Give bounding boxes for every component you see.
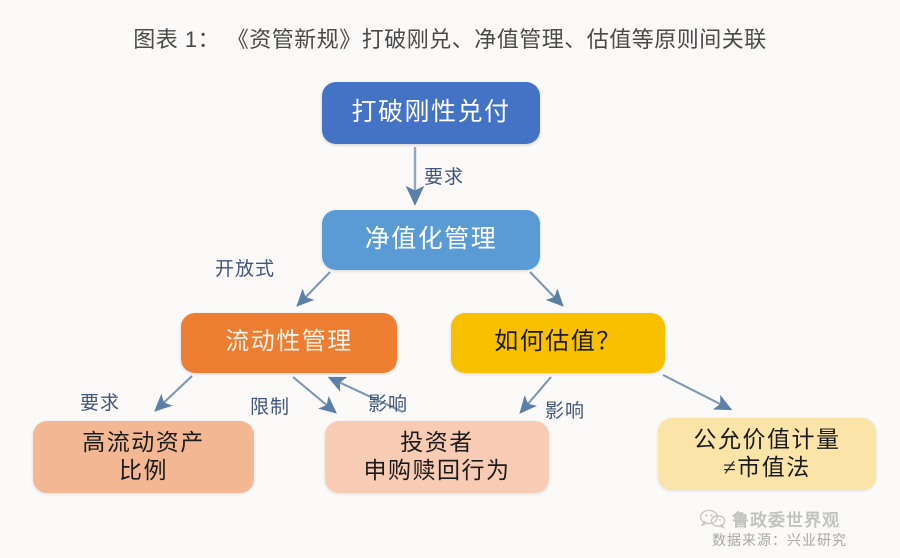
- node-label: 打破刚性兑付: [351, 98, 510, 129]
- node-label-line1: 高流动资产: [82, 429, 205, 457]
- node-break-rigid-payment[interactable]: 打破刚性兑付: [322, 82, 540, 144]
- arrow-liquidity-to-high-liquid: [156, 376, 192, 410]
- edge-label-limit: 限制: [250, 392, 290, 419]
- edge-label-open-ended: 开放式: [215, 254, 275, 281]
- arrow-nav-to-liquidity: [298, 272, 330, 305]
- edge-label-affect-middle: 影响: [368, 389, 408, 416]
- source-note: 数据来源：兴业研究: [712, 530, 847, 550]
- node-label: 流动性管理: [225, 328, 353, 357]
- arrow-liquidity-to-investor: [293, 377, 335, 412]
- wechat-icon: [700, 509, 726, 529]
- node-investor-behavior[interactable]: 投资者 申购赎回行为: [325, 421, 549, 493]
- node-fair-value-measurement[interactable]: 公允价值计量 ≠市值法: [658, 418, 876, 490]
- watermark: 鲁政委世界观: [700, 506, 840, 531]
- node-label: 净值化管理: [365, 225, 498, 256]
- node-how-to-value[interactable]: 如何估值？: [451, 313, 665, 373]
- node-nav-management[interactable]: 净值化管理: [322, 210, 540, 270]
- node-label-line2: 申购赎回行为: [364, 457, 511, 485]
- node-high-liquid-assets[interactable]: 高流动资产 比例: [33, 421, 254, 493]
- edge-label-require-top: 要求: [424, 162, 464, 189]
- edge-label-require-bottom-left: 要求: [80, 388, 120, 415]
- arrow-valuation-to-fair-value: [663, 375, 730, 409]
- node-label-line2: ≠市值法: [694, 454, 841, 482]
- arrow-nav-to-valuation: [530, 272, 562, 305]
- edge-label-affect-right: 影响: [545, 396, 585, 423]
- node-label: 如何估值？: [494, 328, 622, 357]
- node-liquidity-management[interactable]: 流动性管理: [181, 313, 397, 373]
- diagram-canvas: 图表 1： 《资管新规》打破刚兑、净值管理、估值等原则间关联 打破刚性兑付 净值…: [0, 0, 900, 558]
- node-label-line2: 比例: [82, 457, 205, 485]
- node-label-line1: 公允价值计量: [694, 426, 841, 454]
- node-label-line1: 投资者: [364, 429, 511, 457]
- watermark-text: 鲁政委世界观: [732, 506, 840, 531]
